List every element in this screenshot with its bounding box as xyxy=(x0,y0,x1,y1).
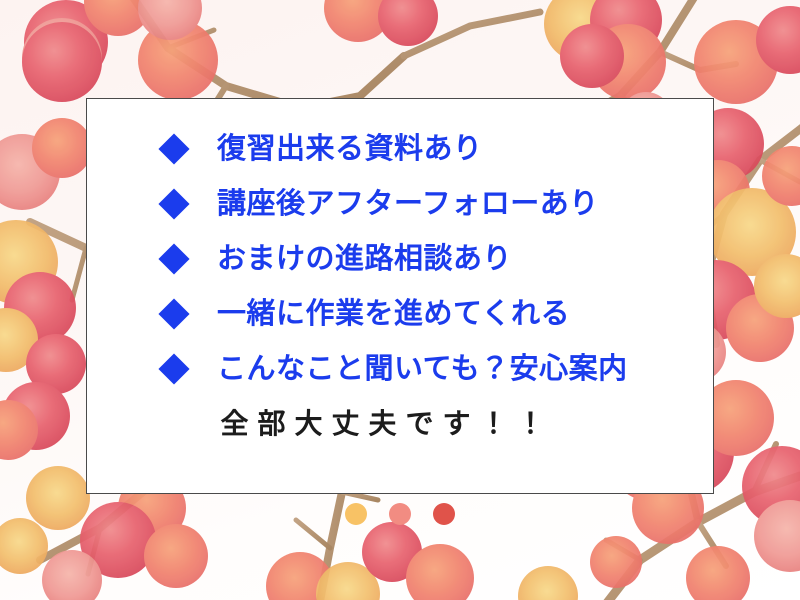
list-item: 一緒に作業を進めてくれる xyxy=(87,286,713,341)
diamond-bullet-icon xyxy=(158,133,189,164)
closing-statement: 全部大丈夫です！！ xyxy=(220,410,553,438)
dot-indicator-group xyxy=(0,503,800,525)
diamond-bullet-icon xyxy=(158,243,189,274)
dot-amber xyxy=(345,503,367,525)
list-item-label: 講座後アフターフォローあり xyxy=(217,189,599,218)
diamond-bullet-icon xyxy=(158,188,189,219)
diamond-bullet-icon xyxy=(158,298,189,329)
list-item: おまけの進路相談あり xyxy=(87,231,713,286)
list-item-label: 一緒に作業を進めてくれる xyxy=(217,299,570,328)
diamond-bullet-icon xyxy=(158,353,189,384)
dot-red xyxy=(433,503,455,525)
slide-canvas: 復習出来る資料あり 講座後アフターフォローあり おまけの進路相談あり 一緒に作業… xyxy=(0,0,800,600)
dot-salmon xyxy=(389,503,411,525)
list-item: こんなこと聞いても？安心案内 xyxy=(87,341,713,396)
content-panel: 復習出来る資料あり 講座後アフターフォローあり おまけの進路相談あり 一緒に作業… xyxy=(86,98,714,494)
bullet-list: 復習出来る資料あり 講座後アフターフォローあり おまけの進路相談あり 一緒に作業… xyxy=(87,121,713,452)
list-item-label: おまけの進路相談あり xyxy=(217,244,512,273)
list-item: 復習出来る資料あり xyxy=(87,121,713,176)
list-item: 講座後アフターフォローあり xyxy=(87,176,713,231)
list-item-label: 復習出来る資料あり xyxy=(217,134,483,163)
list-item-label: こんなこと聞いても？安心案内 xyxy=(217,354,628,383)
closing-statement-row: 全部大丈夫です！！ xyxy=(87,396,713,452)
